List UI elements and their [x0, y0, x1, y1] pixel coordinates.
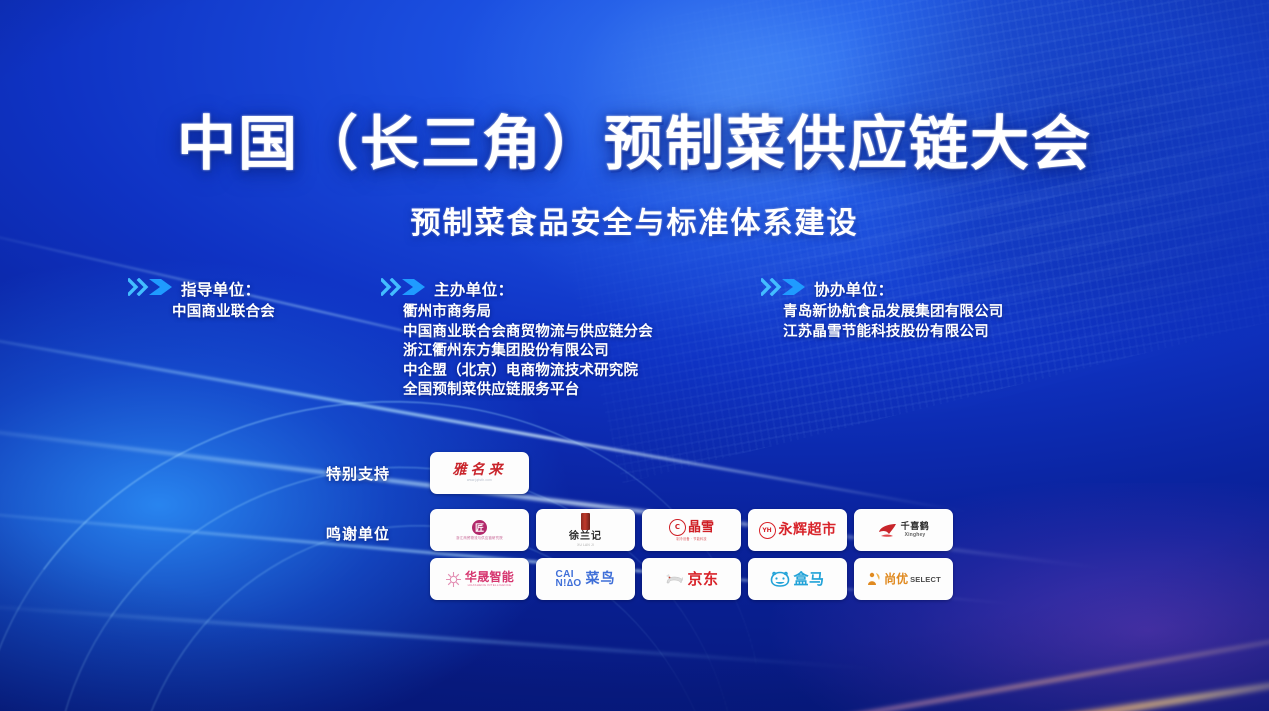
logo-row: C 晶雪	[669, 519, 714, 536]
logo-card-hema[interactable]: 盒马	[748, 558, 847, 600]
institute-emblem-icon: 匠	[472, 520, 487, 535]
organizer-heading-label: 协办单位：	[814, 278, 894, 300]
logo-mark-xulanji: 徐兰记 XU LAN JI	[569, 513, 602, 547]
organizer-unit: 浙江衢州东方集团股份有限公司	[403, 342, 653, 362]
organizer-heading-label: 主办单位：	[434, 278, 514, 300]
logo-card-cainiao[interactable]: CAIN!∆O 菜鸟	[536, 558, 635, 600]
logo-mark-yamingai: 雅名来 www.jqtsth.com	[453, 463, 507, 482]
logo-mark-zhejiang-institute: 匠 浙江商贸物流与供应链研究院	[456, 520, 503, 540]
logo-mark-shangyou: 尚优 SELECT	[854, 558, 953, 600]
hema-hippo-icon	[770, 571, 790, 587]
organizer-unit-list: 青岛新协航食品发展集团有限公司 江苏晶雪节能科技股份有限公司	[783, 303, 1004, 342]
xinghey-swoosh-icon	[878, 523, 897, 538]
logo-text: 菜鸟	[586, 572, 616, 586]
logo-mark-xinghey: 千喜鹤 Xinghey	[854, 509, 953, 551]
logo-mark-jd: 京东	[642, 558, 741, 600]
logo-card-huasheng[interactable]: 华晟智能 HUASHENG INTELLIGENCE	[430, 558, 529, 600]
organizer-unit: 青岛新协航食品发展集团有限公司	[783, 303, 1004, 323]
shangyou-person-icon	[866, 571, 882, 587]
thanks-units-logo-grid: 匠 浙江商贸物流与供应链研究院 徐兰记 XU LAN JI C 晶雪	[430, 509, 960, 600]
organizer-unit: 中国商业联合会商贸物流与供应链分会	[403, 323, 653, 343]
logo-card-shangyou-select[interactable]: 尚优 SELECT	[854, 558, 953, 600]
logo-subtext: 浙江商贸物流与供应链研究院	[456, 537, 503, 540]
logo-card-yonghui[interactable]: YH 永辉超市	[748, 509, 847, 551]
organizer-unit-list: 中国商业联合会	[172, 303, 275, 323]
organizer-column-guidance: 指导单位： 中国商业联合会	[128, 278, 275, 323]
organizer-heading-row: 指导单位：	[128, 278, 275, 300]
logo-mark-cainiao: CAIN!∆O 菜鸟	[536, 558, 635, 600]
special-support-label: 特别支持	[326, 463, 390, 484]
thanks-units-label: 鸣谢单位	[326, 523, 390, 544]
logo-card-zhejiang-institute[interactable]: 匠 浙江商贸物流与供应链研究院	[430, 509, 529, 551]
logo-text: 徐兰记	[569, 532, 602, 542]
logo-mark-hema: 盒马	[748, 558, 847, 600]
logo-card-jd[interactable]: 京东	[642, 558, 741, 600]
organizer-column-coorganizer: 协办单位： 青岛新协航食品发展集团有限公司 江苏晶雪节能科技股份有限公司	[761, 278, 1004, 342]
logo-subtext: 制冷设备 · 节能科技	[676, 538, 707, 541]
poster-canvas: 中国（长三角）预制菜供应链大会 预制菜食品安全与标准体系建设 指导单位：	[0, 0, 1269, 711]
jd-joy-dog-icon	[664, 572, 684, 586]
chevron-right-icon	[128, 278, 174, 301]
logo-text: 华晟智能	[465, 571, 514, 583]
organizer-columns: 指导单位： 中国商业联合会 主办单位：	[0, 278, 1269, 418]
logo-text: 尚优	[884, 573, 908, 585]
logo-textblock: 华晟智能 HUASHENG INTELLIGENCE	[465, 571, 514, 587]
organizer-column-host: 主办单位： 衢州市商务局 中国商业联合会商贸物流与供应链分会 浙江衢州东方集团股…	[381, 278, 653, 401]
logo-text: 京东	[687, 572, 718, 587]
organizer-unit: 中国商业联合会	[172, 303, 275, 323]
organizer-heading-row: 协办单位：	[761, 278, 1004, 300]
jingxue-ring-icon: C	[669, 519, 686, 536]
logo-subtext: SELECT	[910, 575, 941, 584]
logo-card-xinghey[interactable]: 千喜鹤 Xinghey	[854, 509, 953, 551]
logo-subtext: Xinghey	[905, 533, 926, 538]
organizer-unit: 全国预制菜供应链服务平台	[403, 381, 653, 401]
logo-subtext: HUASHENG INTELLIGENCE	[468, 584, 512, 587]
poster-content: 中国（长三角）预制菜供应链大会 预制菜食品安全与标准体系建设 指导单位：	[0, 0, 1269, 711]
logo-mark-yonghui: YH 永辉超市	[748, 509, 847, 551]
logo-card-yamingai[interactable]: 雅名来 www.jqtsth.com	[430, 452, 529, 494]
logo-mark-huasheng: 华晟智能 HUASHENG INTELLIGENCE	[430, 558, 529, 600]
logo-card-jingxue[interactable]: C 晶雪 制冷设备 · 节能科技	[642, 509, 741, 551]
organizer-unit-list: 衢州市商务局 中国商业联合会商贸物流与供应链分会 浙江衢州东方集团股份有限公司 …	[403, 303, 653, 401]
scroll-icon	[581, 513, 590, 530]
poster-subtitle: 预制菜食品安全与标准体系建设	[0, 198, 1269, 242]
huasheng-burst-icon	[445, 571, 462, 588]
logo-text: 盒马	[793, 572, 824, 587]
poster-title: 中国（长三角）预制菜供应链大会	[0, 96, 1269, 181]
organizer-heading-label: 指导单位：	[181, 278, 261, 300]
organizer-heading-row: 主办单位：	[381, 278, 653, 300]
organizer-unit: 江苏晶雪节能科技股份有限公司	[783, 323, 1004, 343]
chevron-right-icon	[381, 278, 427, 301]
logo-textblock: 千喜鹤 Xinghey	[901, 523, 930, 538]
organizer-unit: 中企盟（北京）电商物流技术研究院	[403, 362, 653, 382]
cainiao-wordmark-icon: CAIN!∆O	[555, 570, 581, 588]
logo-subtext: www.jqtsth.com	[467, 479, 492, 482]
special-support-logo-grid: 雅名来 www.jqtsth.com	[430, 452, 950, 494]
organizer-unit: 衢州市商务局	[403, 303, 653, 323]
logo-text: 雅名来	[453, 463, 507, 477]
logo-text: 千喜鹤	[901, 523, 930, 532]
logo-text: 永辉超市	[779, 523, 837, 537]
logo-card-xulanji[interactable]: 徐兰记 XU LAN JI	[536, 509, 635, 551]
yonghui-ring-icon: YH	[759, 522, 776, 539]
logo-subtext: XU LAN JI	[577, 544, 594, 547]
logo-mark-jingxue: C 晶雪 制冷设备 · 节能科技	[669, 519, 714, 541]
logo-text: 晶雪	[688, 521, 714, 534]
chevron-right-icon	[761, 278, 807, 301]
